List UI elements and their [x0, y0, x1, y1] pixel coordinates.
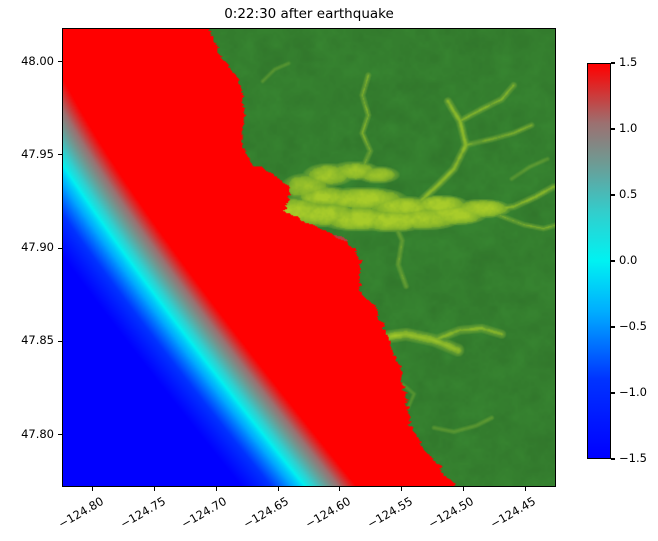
y-tick-label: 47.90 [6, 240, 54, 254]
x-tick-label: −124.75 [117, 494, 167, 531]
x-tick-label: −124.55 [364, 494, 414, 531]
colorbar[interactable]: 1.51.00.50.0−0.5−1.0−1.5 [587, 63, 611, 459]
y-tick-mark [58, 61, 62, 62]
colorbar-tick-mark [611, 392, 615, 393]
y-tick-label: 48.00 [6, 54, 54, 68]
x-tick-label: −124.50 [426, 494, 476, 531]
y-tick-label: 47.85 [6, 333, 54, 347]
colorbar-tick-label: 1.0 [619, 121, 637, 135]
colorbar-tick-mark [611, 62, 615, 63]
x-tick-mark [463, 487, 464, 491]
x-tick-mark [216, 487, 217, 491]
colorbar-tick-mark [611, 128, 615, 129]
x-tick-mark [525, 487, 526, 491]
x-tick-label: −124.45 [488, 494, 538, 531]
x-tick-label: −124.60 [303, 494, 353, 531]
colorbar-tick-mark [611, 194, 615, 195]
x-tick-label: −124.70 [179, 494, 229, 531]
x-tick-mark [278, 487, 279, 491]
x-tick-mark [92, 487, 93, 491]
colorbar-gradient [587, 63, 611, 459]
matplotlib-figure: 0:22:30 after earthquake −124.80−124.75−… [0, 0, 658, 541]
colorbar-tick-label: −1.0 [619, 385, 647, 399]
y-tick-mark [58, 154, 62, 155]
tsunami-heatmap-canvas [63, 29, 555, 486]
colorbar-tick-label: −0.5 [619, 319, 647, 333]
colorbar-tick-mark [611, 458, 615, 459]
colorbar-tick-mark [611, 260, 615, 261]
colorbar-tick-mark [611, 326, 615, 327]
y-tick-mark [58, 248, 62, 249]
colorbar-tick-label: −1.5 [619, 451, 647, 465]
x-tick-label: −124.65 [241, 494, 291, 531]
colorbar-tick-label: 1.5 [619, 55, 637, 69]
y-tick-label: 47.95 [6, 147, 54, 161]
y-tick-label: 47.80 [6, 427, 54, 441]
y-tick-mark [58, 434, 62, 435]
x-tick-mark [339, 487, 340, 491]
x-tick-mark [401, 487, 402, 491]
colorbar-tick-label: 0.5 [619, 187, 637, 201]
x-tick-mark [154, 487, 155, 491]
page-title: 0:22:30 after earthquake [62, 6, 556, 22]
x-tick-label: −124.80 [56, 494, 106, 531]
colorbar-tick-label: 0.0 [619, 253, 637, 267]
map-axes[interactable] [62, 28, 556, 487]
y-tick-mark [58, 341, 62, 342]
